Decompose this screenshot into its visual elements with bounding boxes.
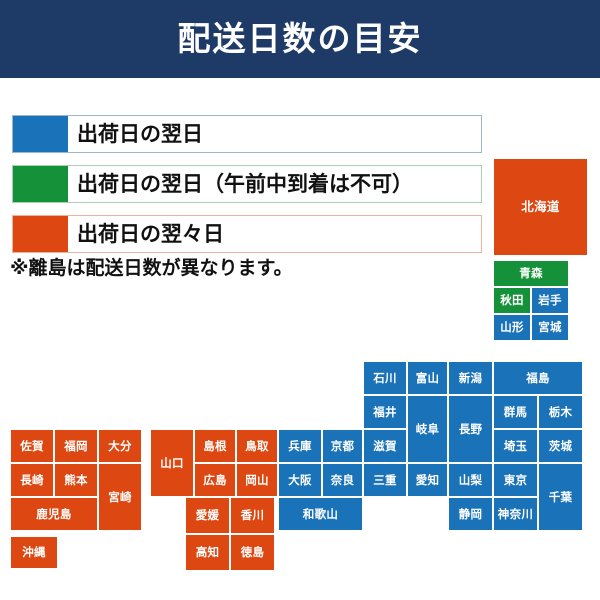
prefecture-cell: 長野 (448, 395, 493, 463)
prefecture-cell: 宮崎 (98, 463, 142, 531)
prefecture-cell: 香川 (230, 497, 275, 534)
prefecture-cell: 青森 (493, 260, 569, 287)
prefecture-cell: 東京 (493, 463, 538, 497)
prefecture-cell: 長崎 (10, 463, 54, 497)
prefecture-cell: 熊本 (54, 463, 98, 497)
legend-label: 出荷日の翌日 (77, 116, 203, 152)
prefecture-cell: 鳥取 (236, 429, 278, 463)
legend-label: 出荷日の翌日（午前中到着は不可） (77, 166, 413, 202)
prefecture-cell: 奈良 (322, 463, 363, 497)
prefecture-cell: 愛知 (407, 463, 448, 497)
prefecture-cell: 徳島 (230, 534, 275, 571)
prefecture-cell: 山口 (150, 429, 194, 497)
legend-swatch-blue (13, 116, 68, 152)
prefecture-cell: 大阪 (278, 463, 322, 497)
prefecture-cell: 福島 (493, 361, 583, 395)
prefecture-cell: 富山 (407, 361, 448, 395)
prefecture-cell: 岐阜 (407, 395, 448, 463)
prefecture-cell: 兵庫 (278, 429, 322, 463)
prefecture-cell: 宮城 (531, 314, 569, 341)
prefecture-cell: 広島 (194, 463, 236, 497)
prefecture-cell: 滋賀 (363, 429, 407, 463)
remote-islands-note: ※離島は配送日数が異なります。 (10, 253, 293, 280)
prefecture-cell: 岩手 (531, 287, 569, 314)
prefecture-cell: 群馬 (493, 395, 538, 429)
legend-row-orange: 出荷日の翌々日 (12, 215, 482, 253)
legend-row-green: 出荷日の翌日（午前中到着は不可） (12, 165, 482, 203)
prefecture-cell: 佐賀 (10, 429, 54, 463)
prefecture-cell: 神奈川 (493, 497, 538, 531)
prefecture-cell: 三重 (363, 463, 407, 497)
prefecture-cell: 新潟 (448, 361, 493, 395)
page-title: 配送日数の目安 (0, 0, 600, 78)
legend-row-blue: 出荷日の翌日 (12, 115, 482, 153)
prefecture-cell: 島根 (194, 429, 236, 463)
prefecture-cell: 栃木 (538, 395, 583, 429)
delivery-days-infographic: 配送日数の目安 出荷日の翌日出荷日の翌日（午前中到着は不可）出荷日の翌々日 ※離… (0, 0, 600, 600)
prefecture-cell: 愛媛 (185, 497, 230, 534)
prefecture-cell: 茨城 (538, 429, 583, 463)
prefecture-cell: 和歌山 (278, 497, 363, 531)
prefecture-cell: 静岡 (448, 497, 493, 531)
header-bar: 配送日数の目安 (0, 0, 600, 78)
prefecture-cell: 福岡 (54, 429, 98, 463)
prefecture-cell: 千葉 (538, 463, 583, 531)
prefecture-cell: 秋田 (493, 287, 531, 314)
prefecture-cell: 沖縄 (10, 536, 58, 569)
legend-swatch-green (13, 166, 68, 202)
prefecture-cell: 北海道 (493, 158, 588, 256)
prefecture-cell: 京都 (322, 429, 363, 463)
prefecture-cell: 福井 (363, 395, 407, 429)
prefecture-cell: 埼玉 (493, 429, 538, 463)
prefecture-cell: 大分 (98, 429, 142, 463)
legend-swatch-orange (13, 216, 68, 252)
prefecture-cell: 石川 (363, 361, 407, 395)
legend-label: 出荷日の翌々日 (77, 216, 224, 252)
prefecture-cell: 山梨 (448, 463, 493, 497)
prefecture-cell: 山形 (493, 314, 531, 341)
prefecture-cell: 高知 (185, 534, 230, 571)
prefecture-cell: 岡山 (236, 463, 278, 497)
prefecture-cell: 鹿児島 (10, 497, 98, 531)
